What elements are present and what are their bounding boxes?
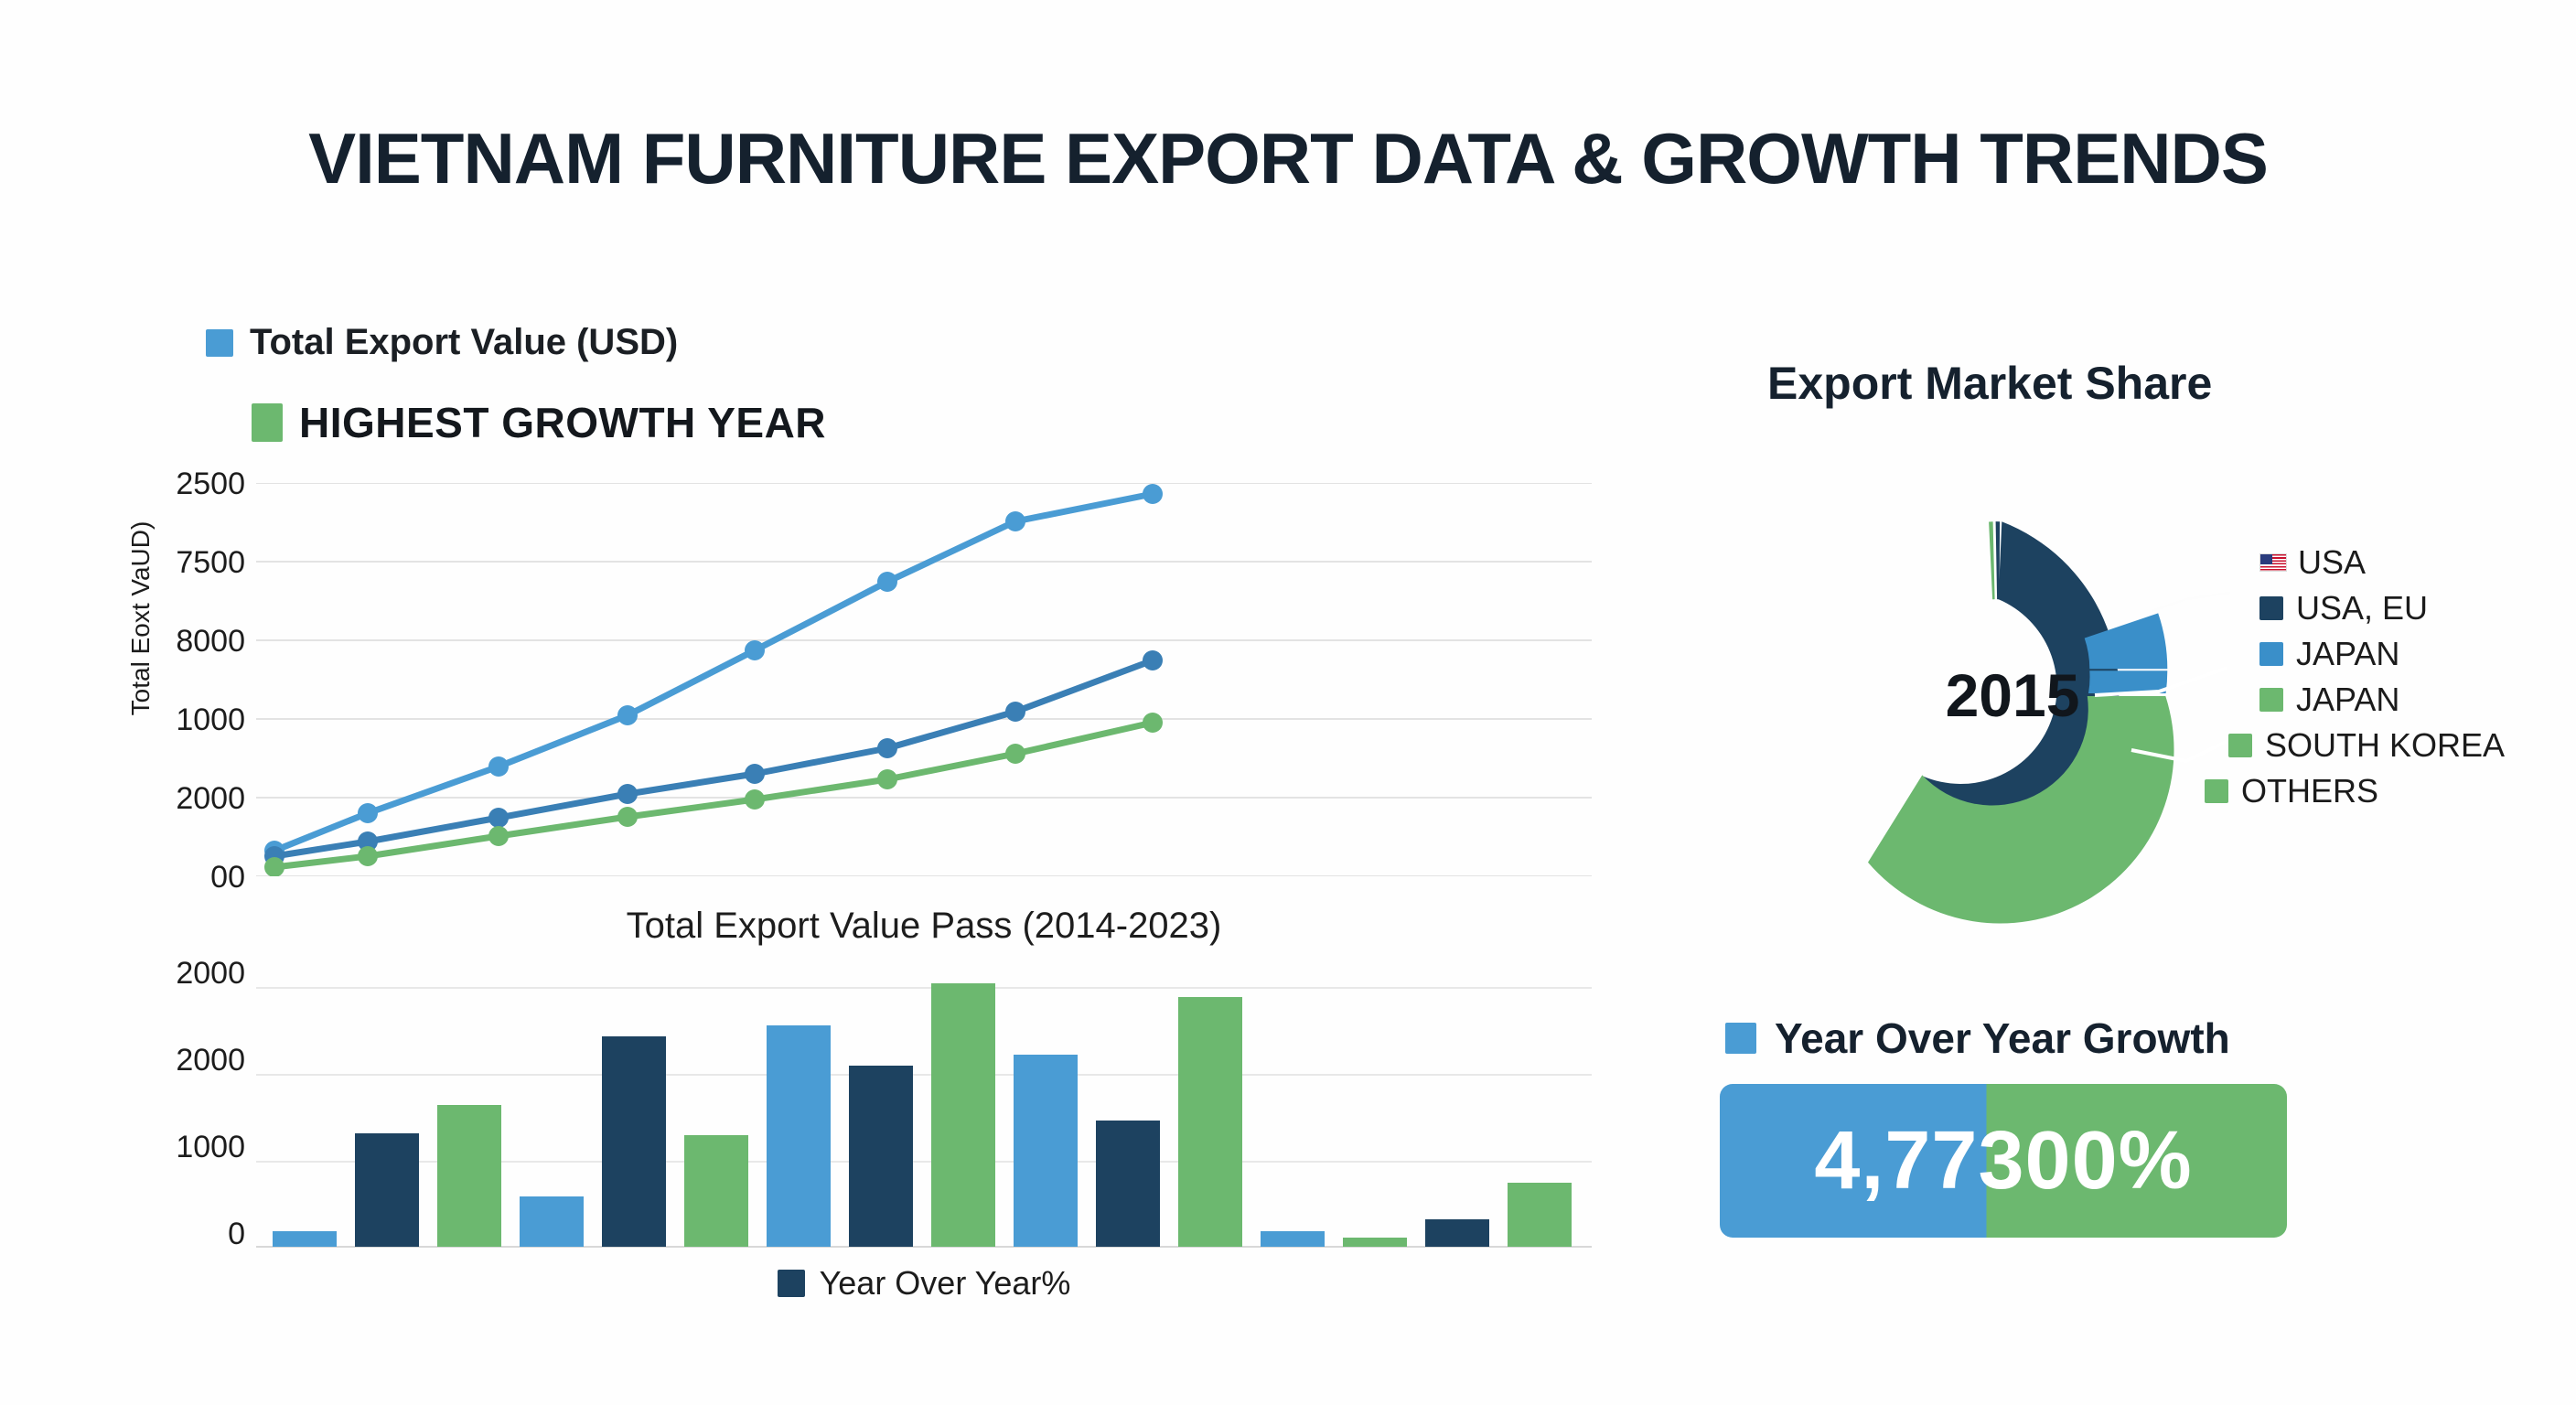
- bar-ytick-1: 2000: [176, 1043, 245, 1078]
- line-ytick-5: 00: [210, 860, 245, 896]
- bar-chart-legend: Year Over Year%: [256, 1264, 1592, 1303]
- line-chart-svg: [256, 483, 1592, 876]
- line-ytick-0: 2500: [176, 467, 245, 502]
- bar-legend-label: Year Over Year%: [820, 1264, 1071, 1303]
- left-charts-column: Total Export Value (USD) HIGHEST GROWTH …: [91, 302, 1592, 1335]
- donut-chart-legend: USA USA, EU JAPAN JAPAN SOUTH KOREA OTHE…: [2259, 540, 2534, 814]
- bar-11: [1096, 1121, 1160, 1247]
- yoy-growth-value: 4,77300%: [1814, 1120, 2192, 1202]
- green-square-icon: [2228, 734, 2252, 757]
- donut-legend-item-usa[interactable]: USA: [2259, 540, 2534, 585]
- navy-square-icon: [778, 1270, 805, 1297]
- blue-square-icon: [1725, 1023, 1756, 1054]
- line-ytick-2: 8000: [176, 624, 245, 660]
- infographic-canvas: VIETNAM FURNITURE EXPORT DATA & GROWTH T…: [0, 0, 2576, 1405]
- donut-legend-item-japan-green[interactable]: JAPAN: [2259, 677, 2534, 723]
- bar-13: [1261, 1231, 1325, 1247]
- green-square-icon: [2205, 779, 2228, 803]
- donut-legend-item-japan-blue[interactable]: JAPAN: [2259, 631, 2534, 677]
- bar-chart-svg: [256, 974, 1592, 1249]
- line-series-highest-growth: [264, 713, 1163, 876]
- bar-chart-plot: [256, 974, 1592, 1249]
- page-title: VIETNAM FURNITURE EXPORT DATA & GROWTH T…: [0, 117, 2576, 200]
- donut-chart-svg: [1729, 439, 2296, 951]
- donut-legend-label-japan-blue: JAPAN: [2296, 635, 2399, 673]
- donut-legend-item-south-korea[interactable]: SOUTH KOREA: [2228, 723, 2534, 768]
- bar-6: [684, 1135, 748, 1247]
- bar-8: [849, 1066, 913, 1247]
- donut-slice-usa-sliver: [1989, 521, 1995, 599]
- line-chart-plot: [256, 483, 1592, 876]
- donut-legend-label-usa: USA: [2298, 543, 2366, 582]
- navy-square-icon: [2259, 596, 2283, 620]
- blue-square-icon: [2259, 642, 2283, 666]
- bar-chart-y-axis: 2000 2000 1000 0: [91, 974, 245, 1249]
- line-series-secondary: [264, 650, 1163, 866]
- bar-14: [1343, 1238, 1407, 1247]
- line-ytick-4: 2000: [176, 781, 245, 817]
- bar-ytick-0: 2000: [176, 956, 245, 992]
- line-chart-y-axis: 2500 7500 8000 1000 2000 00: [91, 483, 245, 876]
- bar-ytick-2: 1000: [176, 1130, 245, 1165]
- line-legend-label-highest-growth: HIGHEST GROWTH YEAR: [299, 398, 826, 447]
- yoy-growth-label: Year Over Year Growth: [1775, 1014, 2230, 1063]
- donut-chart: 2015: [1729, 439, 2296, 951]
- donut-legend-label-usa-eu: USA, EU: [2296, 589, 2428, 627]
- line-chart-y-axis-label: Total Eoxt VaUD): [126, 481, 156, 756]
- bar-2: [355, 1133, 419, 1247]
- yoy-growth-badge: 4,77300%: [1720, 1084, 2287, 1238]
- donut-legend-item-others[interactable]: OTHERS: [2205, 768, 2534, 814]
- line-chart-subtitle: Total Export Value Pass (2014-2023): [256, 906, 1592, 947]
- donut-legend-label-others: OTHERS: [2241, 772, 2378, 810]
- donut-slice-eu-sliver: [1996, 521, 2001, 599]
- line-legend-label-total-export: Total Export Value (USD): [250, 322, 678, 363]
- bar-16: [1508, 1183, 1572, 1247]
- bar-7: [767, 1025, 831, 1247]
- donut-legend-label-south-korea: SOUTH KOREA: [2265, 726, 2505, 765]
- bar-1: [273, 1231, 337, 1247]
- blue-square-icon: [206, 329, 233, 357]
- bar-3: [437, 1105, 501, 1247]
- bar-chart-bars: [273, 983, 1572, 1247]
- bar-9: [931, 983, 995, 1247]
- bar-10: [1014, 1055, 1078, 1247]
- bar-15: [1425, 1219, 1489, 1247]
- donut-legend-label-japan-green: JAPAN: [2296, 681, 2399, 719]
- line-ytick-3: 1000: [176, 702, 245, 738]
- donut-legend-item-usa-eu[interactable]: USA, EU: [2259, 585, 2534, 631]
- green-square-icon: [252, 403, 283, 442]
- line-legend-item-total-export: Total Export Value (USD): [206, 322, 678, 363]
- line-legend-item-highest-growth: HIGHEST GROWTH YEAR: [252, 398, 826, 447]
- green-square-icon: [2259, 688, 2283, 712]
- right-charts-column: Export Market Share: [1738, 348, 2488, 1317]
- bar-ytick-3: 0: [228, 1217, 245, 1252]
- bar-5: [602, 1036, 666, 1247]
- donut-slices: [1868, 521, 2174, 923]
- donut-chart-title: Export Market Share: [1767, 357, 2212, 410]
- usa-flag-icon: [2259, 553, 2287, 572]
- bar-12: [1178, 997, 1242, 1247]
- yoy-growth-legend: Year Over Year Growth: [1725, 1014, 2230, 1063]
- donut-slice-south-korea-others: [1868, 696, 2174, 923]
- line-ytick-1: 7500: [176, 545, 245, 581]
- line-chart-gridlines: [256, 483, 1592, 876]
- bar-4: [520, 1196, 584, 1247]
- donut-leader-lines-outer: [2152, 593, 2230, 611]
